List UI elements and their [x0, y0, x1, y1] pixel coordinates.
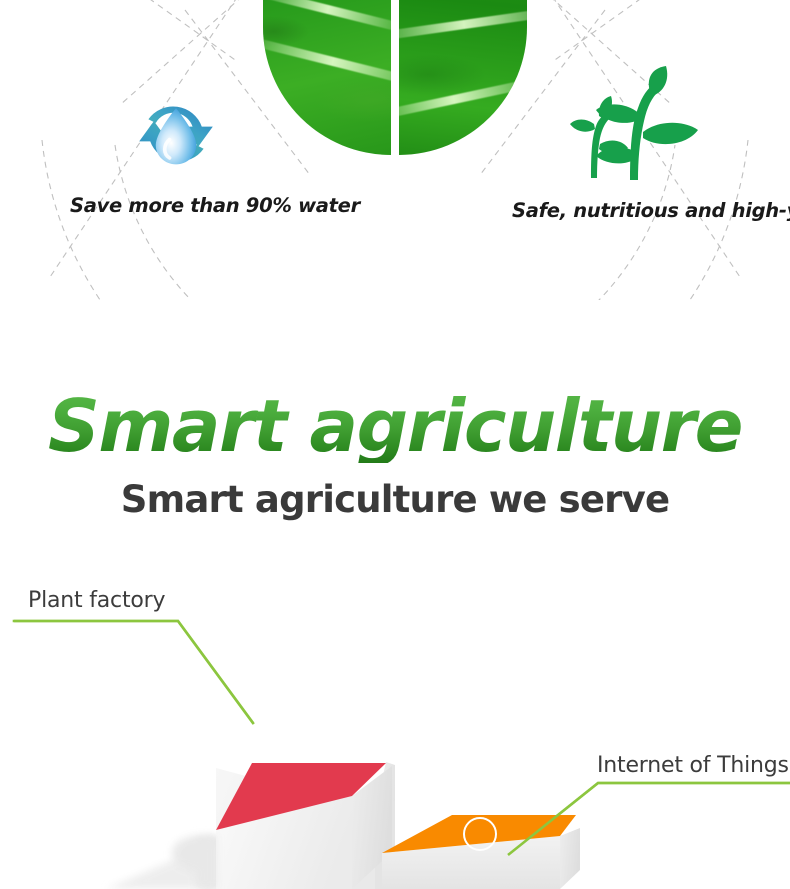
product-detail-page: Save more than 90% water Safe, nutritiou… — [0, 0, 790, 889]
connector-line-plant-factory — [14, 621, 253, 723]
sprout-plant-icon — [558, 66, 708, 184]
page-title: Smart agriculture — [0, 390, 790, 463]
label-internet-of-things: Internet of Things — [597, 753, 789, 778]
vegetable-photo-right-half — [399, 0, 527, 155]
water-recycle-icon — [130, 88, 222, 180]
cube-marker-circle — [272, 713, 302, 743]
vegetable-photo-left-half — [263, 0, 391, 155]
benefits-diagram: Save more than 90% water Safe, nutritiou… — [0, 0, 790, 300]
section-title: Smart agriculture Smart agriculture we s… — [0, 390, 790, 521]
feature-label-water: Save more than 90% water — [70, 194, 360, 217]
slab-right-face — [560, 828, 580, 889]
page-subtitle: Smart agriculture we serve — [0, 480, 790, 521]
isometric-blocks-art — [0, 570, 790, 889]
solutions-isometric-diagram: Plant factory Internet of Things — [0, 570, 790, 889]
vegetable-photo — [263, 0, 527, 155]
label-plant-factory: Plant factory — [28, 588, 165, 613]
feature-label-plant: Safe, nutritious and high-yield — [512, 199, 790, 222]
